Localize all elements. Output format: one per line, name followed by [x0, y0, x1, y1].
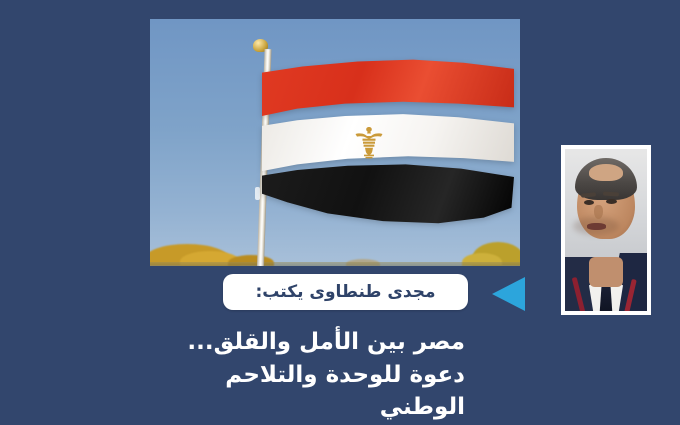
mouth: [587, 223, 606, 230]
author-portrait-image: [565, 149, 647, 311]
flag-stripe-red: [262, 59, 514, 121]
flag-stripe-white: [262, 111, 514, 173]
eye-left: [584, 200, 594, 205]
byline-pill[interactable]: مجدى طنطاوى يكتب:: [223, 274, 468, 310]
left-triangle-icon: [492, 277, 525, 311]
headline-line-1: مصر بين الأمل والقلق...: [135, 326, 465, 359]
author-portrait[interactable]: [561, 145, 651, 315]
eagle-of-saladin-icon: [354, 125, 384, 159]
ground-line: [150, 262, 520, 266]
neck: [589, 257, 623, 287]
egyptian-flag: [262, 59, 514, 231]
flag-stripe-black: [262, 163, 514, 233]
headline-line-2: دعوة للوحدة والتلاحم الوطني: [135, 359, 465, 424]
egyptian-flag-photo[interactable]: [150, 19, 520, 266]
article-promo-card: مجدى طنطاوى يكتب: مصر بين: [0, 0, 680, 425]
forehead: [589, 164, 623, 181]
byline-label: مجدى طنطاوى يكتب:: [255, 282, 435, 302]
flagpole-cleat: [255, 187, 260, 200]
nose: [594, 205, 603, 219]
article-headline[interactable]: مصر بين الأمل والقلق... دعوة للوحدة والت…: [135, 326, 465, 424]
eye-right: [606, 199, 617, 204]
